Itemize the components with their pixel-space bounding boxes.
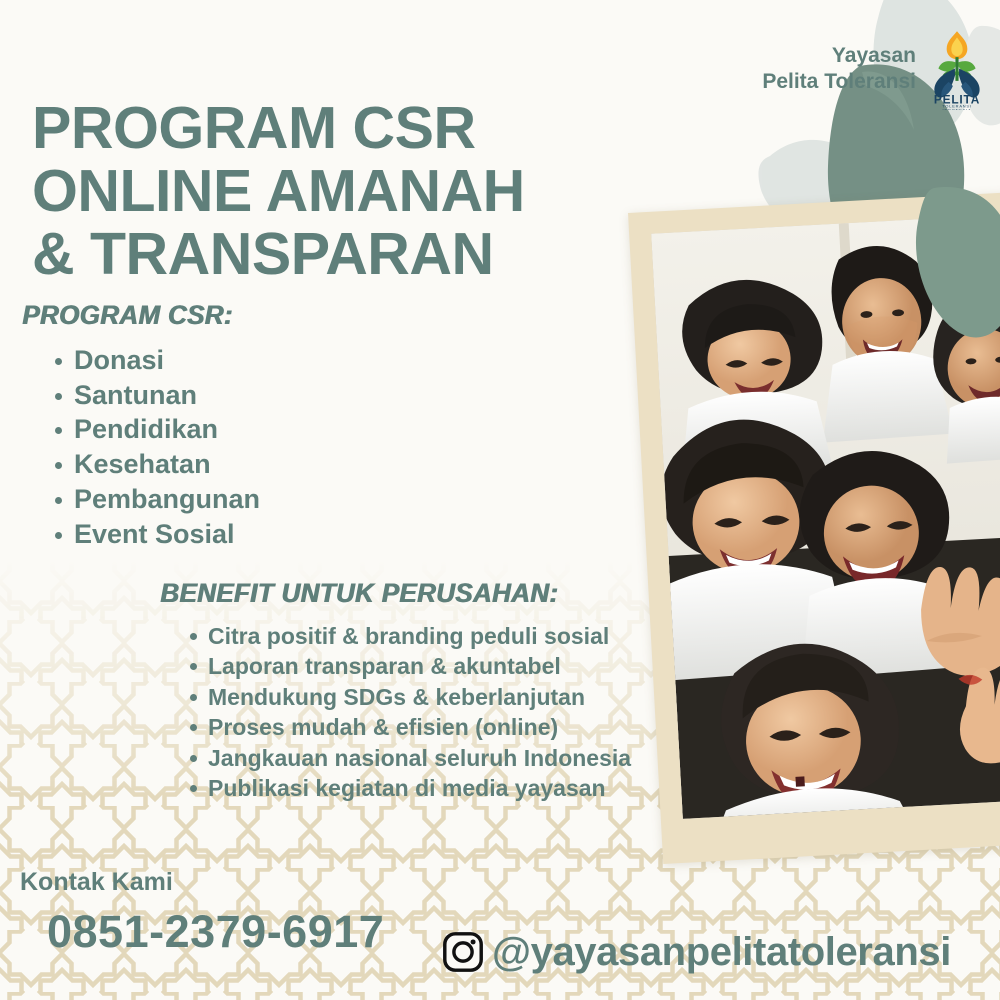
list-item: Mendukung SDGs & keberlanjutan xyxy=(160,682,631,712)
list-item: Donasi xyxy=(22,343,260,378)
contact-label: Kontak Kami xyxy=(20,870,384,895)
list-item: Pendidikan xyxy=(22,412,260,447)
organization-name-line-2: Pelita Toleransi xyxy=(762,69,916,95)
list-item: Kesehatan xyxy=(22,447,260,482)
list-item: Jangkauan nasional seluruh Indonesia xyxy=(160,743,631,773)
instagram-icon[interactable] xyxy=(440,929,486,975)
organization-name: Yayasan Pelita Toleransi xyxy=(762,43,916,94)
list-item: Santunan xyxy=(22,378,260,413)
title-line-3: & TRANSPARAN xyxy=(32,223,632,286)
list-item: Laporan transparan & akuntabel xyxy=(160,651,631,681)
brand-lockup: Yayasan Pelita Toleransi PELITA TOLERANS… xyxy=(762,28,988,110)
benefit-list: Citra positif & branding peduli sosial L… xyxy=(160,621,631,803)
title-line-2: ONLINE AMANAH xyxy=(32,160,632,223)
program-csr-heading: PROGRAM CSR: xyxy=(22,300,251,331)
benefit-heading: BENEFIT UNTUK PERUSAHAN: xyxy=(160,578,612,609)
pelita-toleransi-logo-icon: PELITA TOLERANSI INDONESIA xyxy=(926,28,988,110)
list-item: Citra positif & branding peduli sosial xyxy=(160,621,631,651)
list-item: Pembangunan xyxy=(22,482,260,517)
program-csr-section: PROGRAM CSR: Donasi Santunan Pendidikan … xyxy=(22,300,260,551)
organization-name-line-1: Yayasan xyxy=(762,43,916,69)
poster-canvas: PROGRAM CSR ONLINE AMANAH & TRANSPARAN Y… xyxy=(0,0,1000,1000)
page-title: PROGRAM CSR ONLINE AMANAH & TRANSPARAN xyxy=(32,97,632,286)
list-item: Event Sosial xyxy=(22,517,260,552)
contact-phone[interactable]: 0851-2379-6917 xyxy=(47,909,384,954)
list-item: Proses mudah & efisien (online) xyxy=(160,712,631,742)
benefit-section: BENEFIT UNTUK PERUSAHAN: Citra positif &… xyxy=(160,578,631,803)
program-csr-list: Donasi Santunan Pendidikan Kesehatan Pem… xyxy=(22,343,260,551)
social-block[interactable]: @yayasanpelitatoleransi xyxy=(440,929,951,975)
instagram-handle[interactable]: @yayasanpelitatoleransi xyxy=(492,932,951,972)
logo-sub-2: INDONESIA xyxy=(943,108,972,110)
photo-image xyxy=(651,215,1000,819)
title-line-1: PROGRAM CSR xyxy=(32,97,632,160)
contact-block: Kontak Kami 0851-2379-6917 xyxy=(20,870,384,954)
list-item: Publikasi kegiatan di media yayasan xyxy=(160,773,631,803)
photo-frame xyxy=(628,192,1000,864)
